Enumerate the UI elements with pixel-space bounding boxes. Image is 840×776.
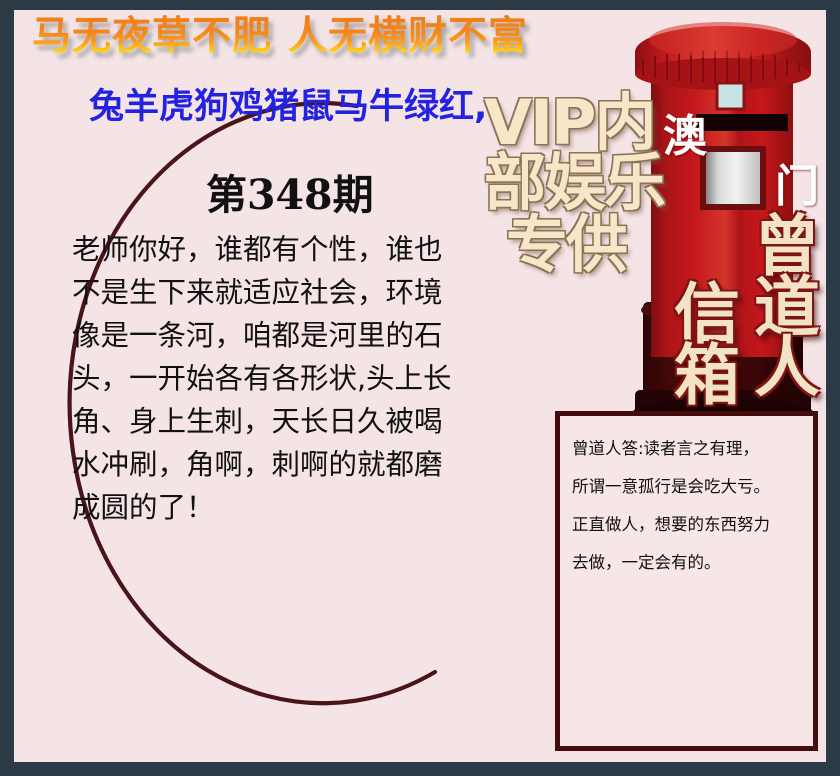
answer-text: 曾道人答:读者言之有理， 所谓一意孤行是会吃大亏。 正直做人，想要的东西努力 去…	[560, 416, 813, 582]
answer-line: 正直做人，想要的东西努力	[572, 506, 801, 544]
letter-line: 不是生下来就适应社会，环境	[72, 271, 492, 314]
answer-line: 曾道人答:读者言之有理，	[572, 430, 801, 468]
brand-char-xiang: 箱	[674, 343, 740, 409]
vip-banner-line-3: 专供	[506, 194, 626, 284]
letter-line: 头，一开始各有各形状,头上长	[72, 357, 492, 400]
poster-canvas: 马无夜草不肥人无横财不富 马无夜草不肥人无横财不富 兔羊虎狗鸡猪鼠马牛绿红, V…	[14, 10, 826, 762]
answer-line: 所谓一意孤行是会吃大亏。	[572, 468, 801, 506]
answer-box: 曾道人答:读者言之有理， 所谓一意孤行是会吃大亏。 正直做人，想要的东西努力 去…	[555, 411, 818, 751]
letter-line: 像是一条河，咱都是河里的石	[72, 314, 492, 357]
mailbox-cap	[635, 22, 811, 90]
headline-part1: 马无夜草不肥	[32, 13, 272, 59]
letter-body: 老师你好，谁都有个性，谁也 不是生下来就适应社会，环境 像是一条河，咱都是河里的…	[72, 228, 492, 529]
mailbox-city-right: 门	[775, 150, 819, 214]
poster-root: 马无夜草不肥人无横财不富 马无夜草不肥人无横财不富 兔羊虎狗鸡猪鼠马牛绿红, V…	[0, 0, 840, 776]
mailbox-plate	[703, 149, 763, 207]
mailbox-city-left: 澳	[663, 100, 707, 164]
zodiac-line: 兔羊虎狗鸡猪鼠马牛绿红,	[89, 78, 487, 129]
letter-line: 成圆的了！	[72, 486, 492, 529]
letter-line: 老师你好，谁都有个性，谁也	[72, 228, 492, 271]
headline: 马无夜草不肥人无横财不富 马无夜草不肥人无横财不富	[32, 17, 592, 56]
answer-line: 去做，一定会有的。	[572, 544, 801, 582]
letter-line: 角、身上生刺，天长日久被喝	[72, 400, 492, 443]
headline-part2: 人无横财不富	[288, 13, 528, 59]
headline-text: 马无夜草不肥人无横财不富	[32, 13, 528, 59]
issue-title: 第348期	[206, 161, 374, 221]
letter-line: 水冲刷，角啊，刺啊的就都磨	[72, 443, 492, 486]
mailbox-window	[717, 83, 744, 109]
mailbox-slot	[696, 114, 788, 131]
brand-char-ren: 人	[754, 335, 820, 401]
